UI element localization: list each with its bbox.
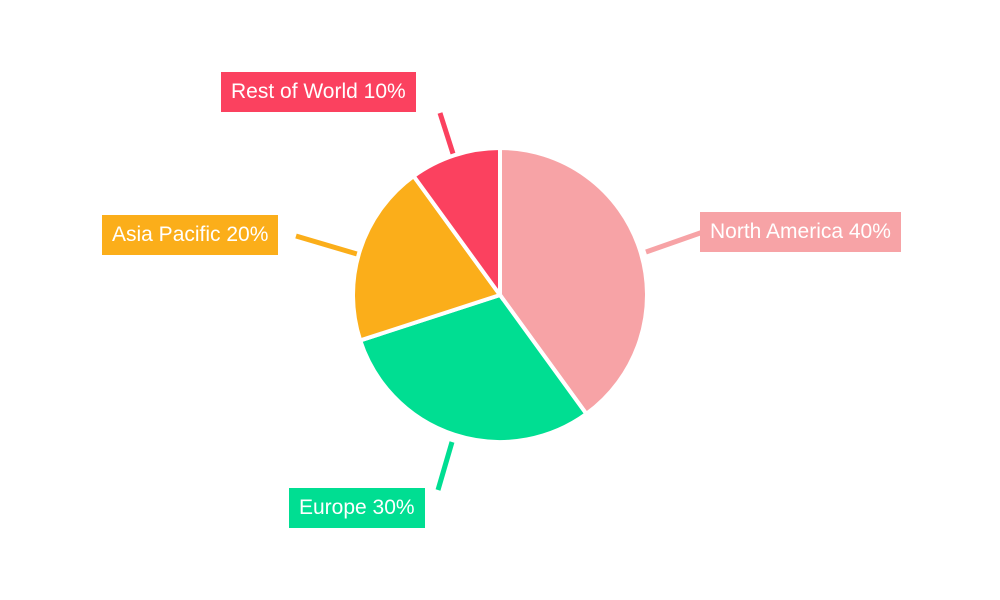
leader-line-europe xyxy=(438,442,452,490)
leader-line-north-america xyxy=(646,232,703,252)
slice-label-rest-of-world: Rest of World 10% xyxy=(221,72,416,112)
slice-label-north-america: North America 40% xyxy=(700,212,901,252)
slice-label-europe: Europe 30% xyxy=(289,488,425,528)
slice-label-asia-pacific: Asia Pacific 20% xyxy=(102,215,278,255)
pie-chart: North America 40% Europe 30% Asia Pacifi… xyxy=(0,0,1000,600)
leader-line-asia-pacific xyxy=(296,236,357,254)
pie-slices xyxy=(353,148,647,442)
pie-chart-canvas xyxy=(0,0,1000,600)
